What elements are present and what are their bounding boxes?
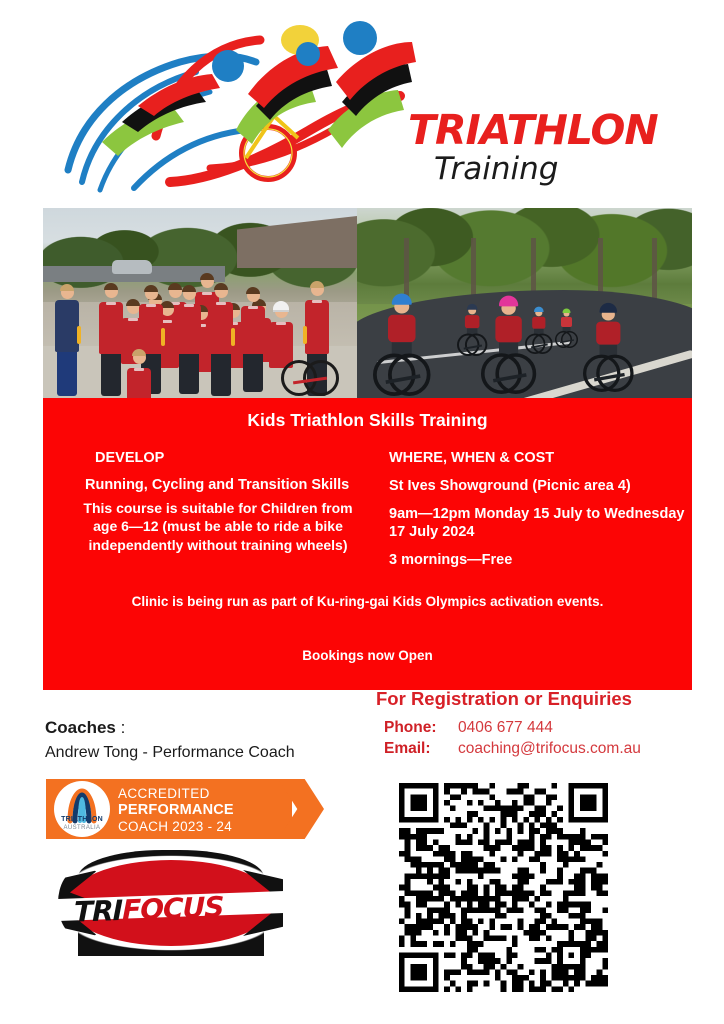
contact-row-email: Email: coaching@trifocus.com.au [376, 740, 696, 758]
triathlon-australia-logo-icon: TRIATHLON AUSTRALIA [54, 781, 110, 837]
photo-strip [43, 208, 692, 398]
email-label: Email: [376, 740, 458, 758]
develop-subheading: Running, Cycling and Transition Skills [85, 477, 367, 493]
triathlon-australia-line1: TRIATHLON [54, 816, 110, 823]
develop-heading: DEVELOP [95, 450, 367, 466]
details-cost: 3 mornings—Free [389, 551, 689, 570]
trifocus-word-focus: FOCUS [122, 890, 223, 927]
phone-label: Phone: [376, 719, 458, 737]
wordmark-triathlon: TRIATHLON [408, 110, 658, 151]
flyer-title: Kids Triathlon Skills Training [43, 410, 692, 431]
activation-note: Clinic is being run as part of Ku-ring-g… [43, 594, 692, 609]
coach-name: Andrew Tong - Performance Coach [45, 744, 375, 762]
triathlon-swim-bike-run-icon [60, 10, 420, 195]
phone-value[interactable]: 0406 677 444 [458, 719, 553, 737]
trifocus-wordmark: TRIFOCUS [74, 890, 223, 928]
event-info-block: Kids Triathlon Skills Training DEVELOP R… [43, 398, 692, 690]
coaches-label-colon: : [116, 718, 125, 737]
details-datetime: 9am—12pm Monday 15 July to Wednesday 17 … [389, 505, 689, 542]
photo-kids-group [43, 208, 357, 398]
coaches-label: Coaches : [45, 718, 375, 738]
coaches-label-text: Coaches [45, 718, 116, 737]
badge-line-accredited: ACCREDITED [118, 786, 234, 802]
trifocus-word-tri: TRI [74, 894, 122, 929]
badge-line-coach-year: COACH 2023 - 24 [118, 819, 234, 835]
brand-header: TRIATHLON Training [0, 0, 724, 200]
contact-row-phone: Phone: 0406 677 444 [376, 719, 696, 737]
triathlon-australia-line2: AUSTRALIA [54, 825, 110, 831]
brand-wordmark: TRIATHLON Training [408, 110, 658, 185]
badge-text: ACCREDITED PERFORMANCE COACH 2023 - 24 [118, 786, 234, 835]
develop-description: This course is suitable for Children fro… [73, 499, 363, 554]
coaches-section: Coaches : Andrew Tong - Performance Coac… [45, 718, 375, 762]
accredited-performance-coach-badge: TRIATHLON AUSTRALIA ACCREDITED PERFORMAN… [46, 779, 322, 839]
details-heading: WHERE, WHEN & COST [389, 450, 689, 466]
details-column: WHERE, WHEN & COST St Ives Showground (P… [389, 450, 689, 578]
email-value[interactable]: coaching@trifocus.com.au [458, 740, 641, 758]
wordmark-training: Training [434, 154, 658, 185]
bookings-status: Bookings now Open [43, 648, 692, 663]
details-location: St Ives Showground (Picnic area 4) [389, 477, 689, 496]
registration-qr-code[interactable] [399, 783, 608, 992]
trifocus-logo: TRIFOCUS [48, 848, 293, 958]
photo-kids-cycling [357, 208, 692, 398]
badge-line-performance: PERFORMANCE [118, 802, 234, 819]
flyer-page: TRIATHLON Training [0, 0, 724, 1024]
develop-column: DEVELOP Running, Cycling and Transition … [55, 450, 367, 554]
registration-section: For Registration or Enquiries Phone: 040… [376, 688, 696, 761]
registration-heading: For Registration or Enquiries [376, 688, 696, 710]
